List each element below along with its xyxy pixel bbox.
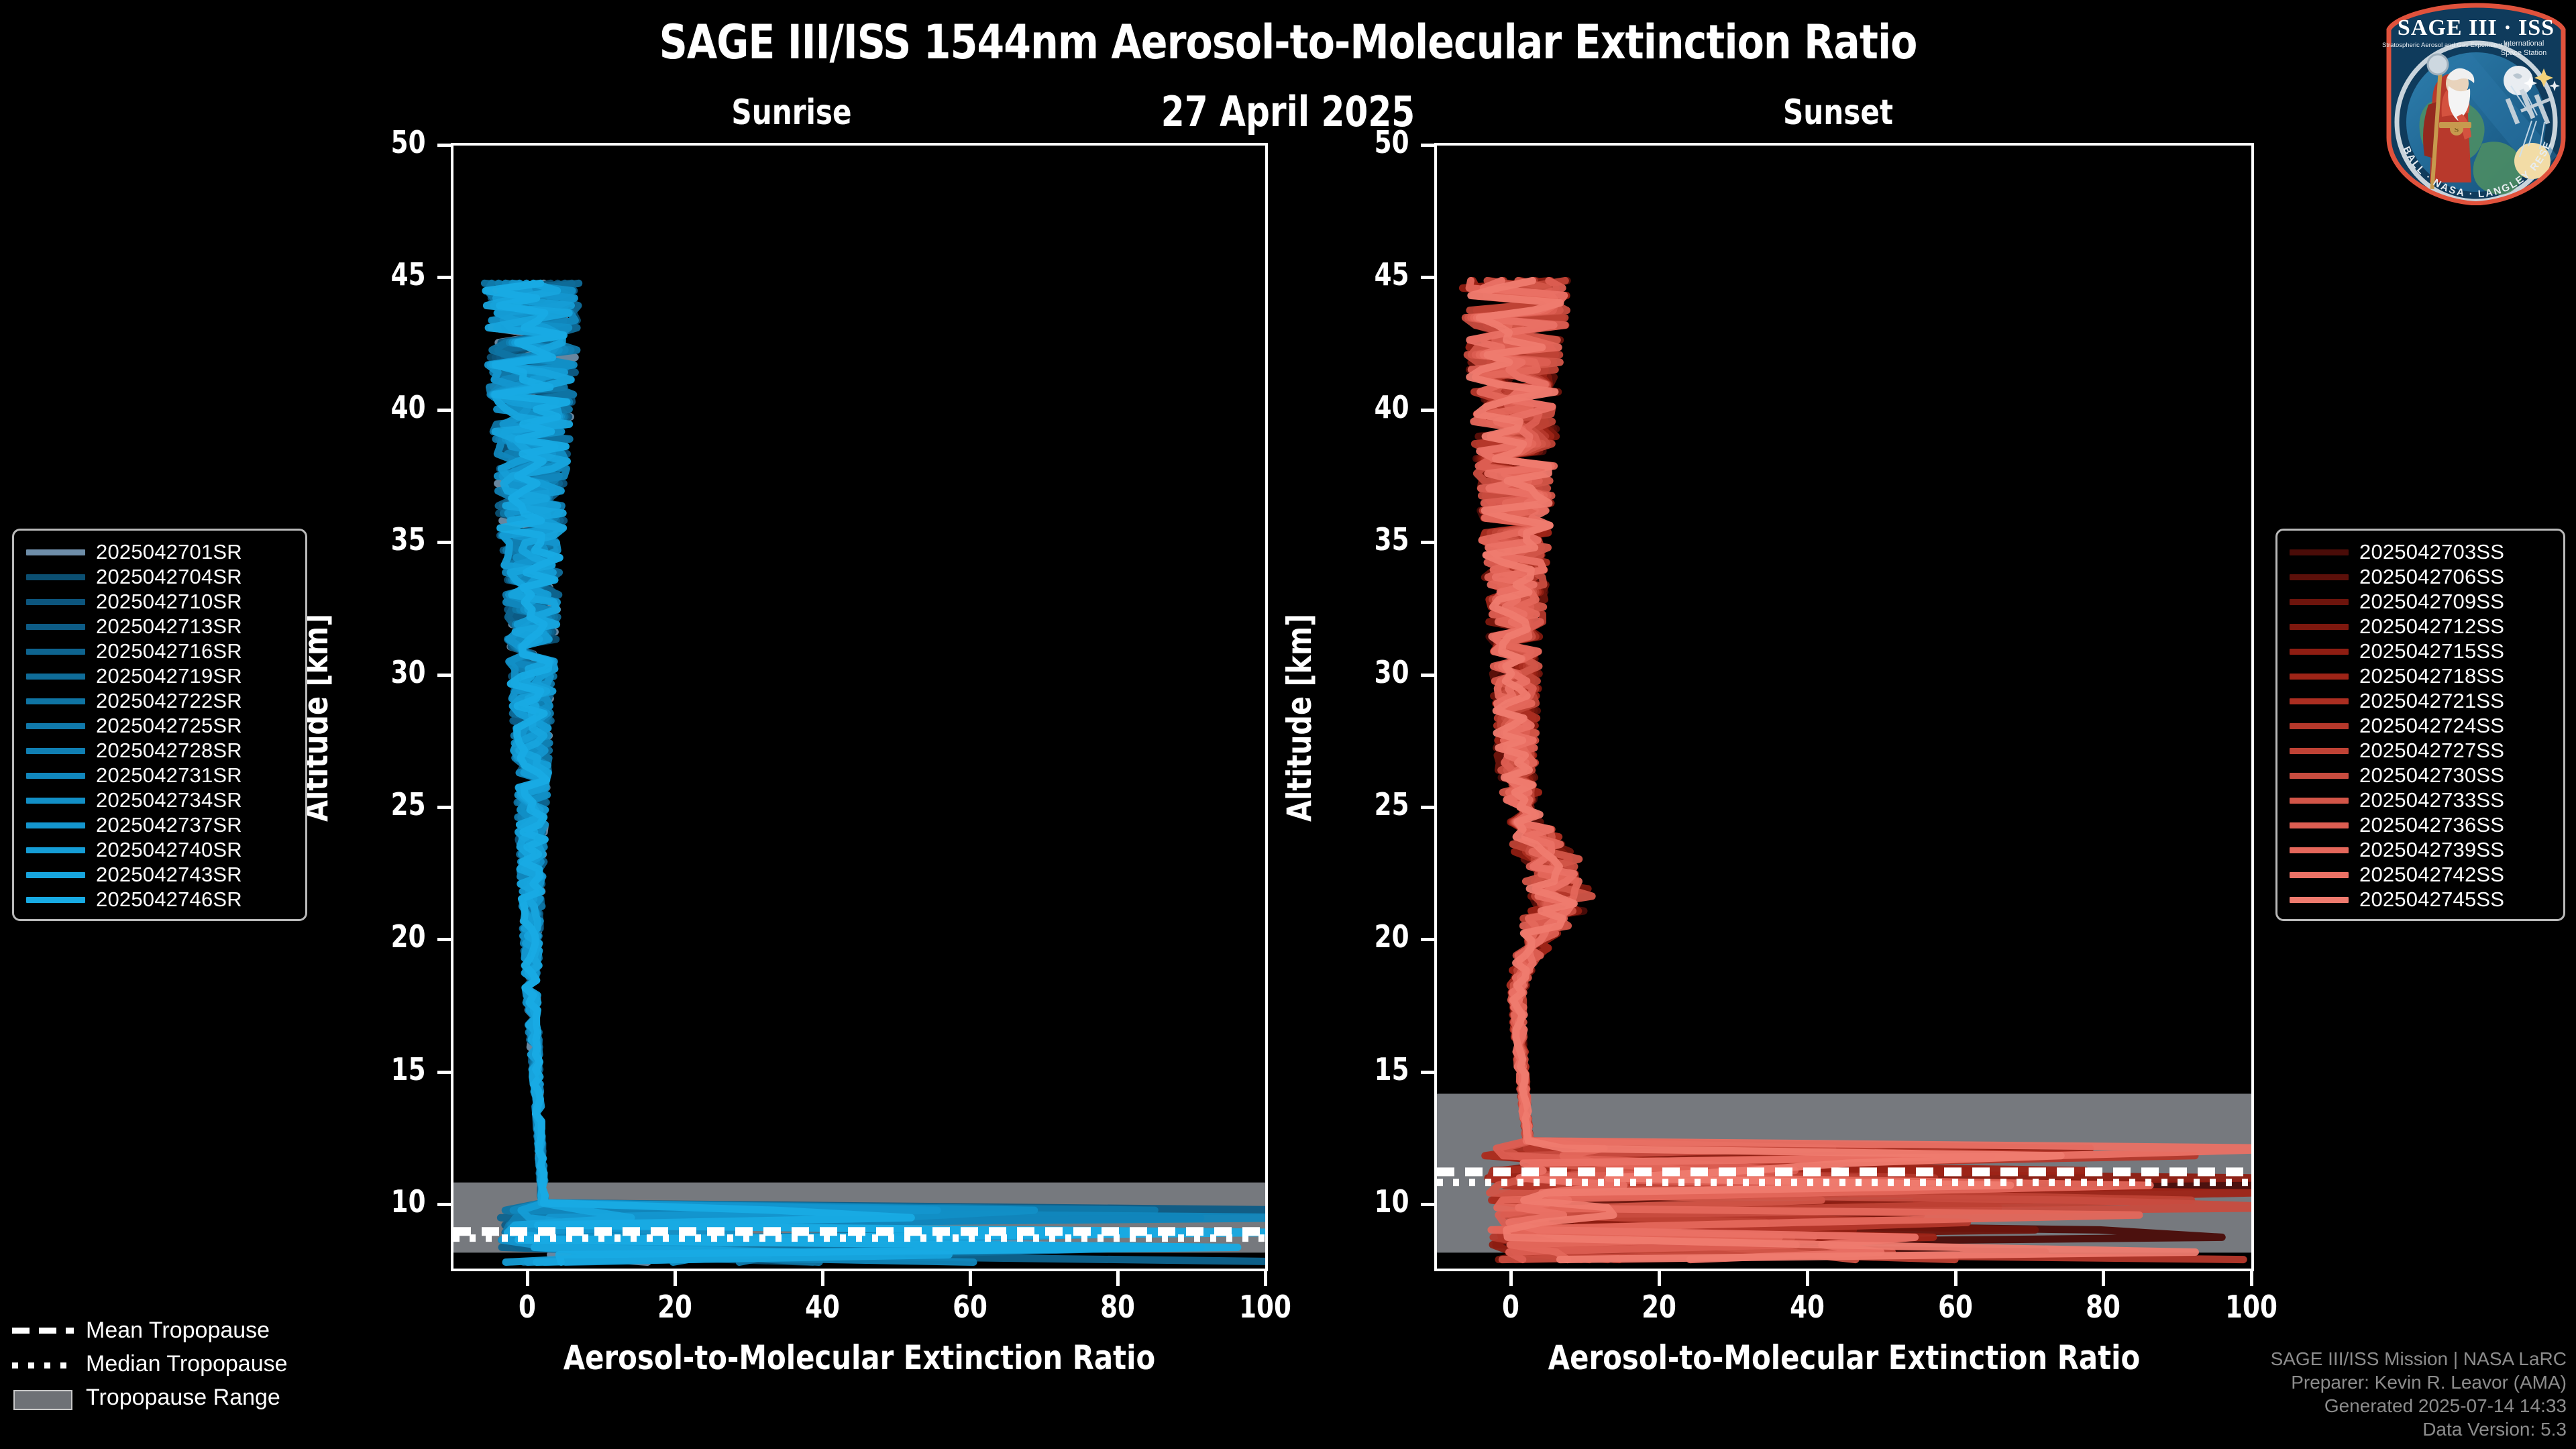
legend-item-label: 2025042734SR — [96, 788, 242, 812]
y-tick-label: 15 — [1319, 1051, 1409, 1087]
legend-item-label: 2025042739SS — [2359, 838, 2504, 862]
legend-color-swatch — [26, 773, 85, 779]
x-tick-label: 20 — [621, 1289, 729, 1325]
legend-color-swatch — [26, 599, 85, 605]
legend-item[interactable]: 2025042736SS — [2290, 813, 2551, 838]
legend-item-label: 2025042737SR — [96, 813, 242, 837]
x-tick-label: 0 — [473, 1289, 582, 1325]
x-tick-mark — [1116, 1271, 1120, 1286]
y-tick-mark — [1421, 1071, 1436, 1074]
legend-color-swatch — [2290, 897, 2349, 903]
x-tick-mark — [1954, 1271, 1957, 1286]
legend-item-label: 2025042746SR — [96, 888, 242, 912]
profile-trace — [486, 283, 1265, 1262]
legend-item[interactable]: 2025042715SS — [2290, 639, 2551, 664]
legend-item[interactable]: 2025042709SS — [2290, 590, 2551, 614]
legend-color-swatch — [26, 872, 85, 878]
legend-item-label: 2025042713SR — [96, 614, 242, 639]
x-tick-mark — [674, 1271, 677, 1286]
legend-item[interactable]: 2025042701SR — [26, 540, 293, 565]
legend-color-swatch — [2290, 798, 2349, 804]
profile-trace — [500, 283, 1265, 1262]
y-tick-mark — [437, 1203, 452, 1206]
legend-sunset[interactable]: 2025042703SS2025042706SS2025042709SS2025… — [2275, 529, 2565, 921]
profile-trace — [490, 283, 1179, 1262]
legend-color-swatch — [26, 798, 85, 804]
legend-item[interactable]: 2025042733SS — [2290, 788, 2551, 813]
x-tick-mark — [1509, 1271, 1513, 1286]
legend-item[interactable]: 2025042727SS — [2290, 739, 2551, 763]
profile-trace — [489, 283, 1111, 1262]
logo-subtitle-right-2: Space Station — [2501, 49, 2547, 57]
y-tick-mark — [1421, 938, 1436, 941]
legend-color-swatch — [26, 748, 85, 754]
x-tick-mark — [969, 1271, 972, 1286]
y-tick-label: 50 — [1319, 124, 1409, 160]
x-tick-label: 60 — [1901, 1289, 2010, 1325]
legend-item-label: 2025042704SR — [96, 565, 242, 589]
legend-item-label: 2025042725SR — [96, 714, 242, 738]
legend-item[interactable]: 2025042742SS — [2290, 863, 2551, 888]
x-tick-mark — [1264, 1271, 1267, 1286]
legend-color-swatch — [2290, 549, 2349, 555]
logo-subtitle-right-1: International — [2504, 40, 2544, 48]
legend-item[interactable]: 2025042721SS — [2290, 689, 2551, 714]
legend-item[interactable]: 2025042704SR — [26, 565, 293, 590]
tropopause-key-label: Median Tropopause — [86, 1351, 288, 1377]
y-tick-label: 35 — [1319, 521, 1409, 557]
profile-traces-sunset — [1437, 146, 2251, 1269]
profile-trace — [492, 283, 1265, 1262]
legend-item[interactable]: 2025042724SS — [2290, 714, 2551, 739]
y-tick-mark — [437, 1071, 452, 1074]
legend-sunrise[interactable]: 2025042701SR2025042704SR2025042710SR2025… — [12, 529, 307, 921]
legend-item-label: 2025042743SR — [96, 863, 242, 887]
y-tick-label: 40 — [335, 389, 426, 425]
profile-trace — [484, 283, 1155, 1262]
x-tick-mark — [821, 1271, 824, 1286]
legend-item[interactable]: 2025042719SR — [26, 664, 293, 689]
plot-sunrise — [451, 143, 1268, 1271]
x-tick-mark — [1658, 1271, 1661, 1286]
legend-item[interactable]: 2025042734SR — [26, 788, 293, 813]
legend-item-label: 2025042709SS — [2359, 590, 2504, 614]
y-tick-mark — [437, 674, 452, 677]
y-tick-label: 20 — [1319, 918, 1409, 955]
y-tick-mark — [1421, 276, 1436, 279]
x-axis-label-sunset: Aerosol-to-Molecular Extinction Ratio — [1463, 1338, 2225, 1377]
legend-color-swatch — [26, 847, 85, 853]
legend-item[interactable]: 2025042710SR — [26, 590, 293, 614]
y-tick-mark — [437, 144, 452, 147]
panel-title-sunset: Sunset — [1669, 93, 2007, 133]
legend-color-swatch — [2290, 649, 2349, 655]
tropopause-key-item: Median Tropopause — [12, 1347, 288, 1381]
legend-item[interactable]: 2025042722SR — [26, 689, 293, 714]
legend-color-swatch — [26, 549, 85, 555]
y-tick-mark — [1421, 1203, 1436, 1206]
legend-color-swatch — [26, 674, 85, 680]
legend-item-label: 2025042715SS — [2359, 639, 2504, 663]
legend-item-label: 2025042742SS — [2359, 863, 2504, 887]
x-tick-label: 0 — [1456, 1289, 1565, 1325]
x-tick-label: 40 — [768, 1289, 877, 1325]
x-tick-label: 100 — [1211, 1289, 1320, 1325]
legend-item-label: 2025042703SS — [2359, 540, 2504, 564]
legend-item[interactable]: 2025042739SS — [2290, 838, 2551, 863]
legend-item-label: 2025042745SS — [2359, 888, 2504, 912]
y-tick-mark — [1421, 541, 1436, 544]
y-tick-label: 30 — [1319, 654, 1409, 690]
legend-item-label: 2025042724SS — [2359, 714, 2504, 738]
legend-item-label: 2025042718SS — [2359, 664, 2504, 688]
legend-item-label: 2025042740SR — [96, 838, 242, 862]
credit-line: Generated 2025-07-14 14:33 — [2271, 1394, 2567, 1417]
legend-item-label: 2025042719SR — [96, 664, 242, 688]
legend-color-swatch — [2290, 624, 2349, 630]
legend-item-label: 2025042727SS — [2359, 739, 2504, 763]
legend-item[interactable]: 2025042725SR — [26, 714, 293, 739]
dashed-line-icon — [12, 1322, 74, 1339]
profile-trace — [490, 283, 1120, 1262]
legend-item-label: 2025042712SS — [2359, 614, 2504, 639]
legend-color-swatch — [2290, 698, 2349, 704]
legend-item-label: 2025042733SS — [2359, 788, 2504, 812]
legend-item[interactable]: 2025042703SS — [2290, 540, 2551, 565]
legend-item-label: 2025042736SS — [2359, 813, 2504, 837]
grey-band-icon — [12, 1389, 74, 1406]
y-tick-label: 10 — [335, 1183, 426, 1220]
y-tick-label: 45 — [335, 256, 426, 292]
profile-traces-sunrise — [453, 146, 1265, 1269]
y-tick-label: 15 — [335, 1051, 426, 1087]
y-tick-mark — [1421, 409, 1436, 412]
y-tick-label: 35 — [335, 521, 426, 557]
legend-color-swatch — [2290, 822, 2349, 828]
legend-item[interactable]: 2025042712SS — [2290, 614, 2551, 639]
plot-sunset — [1434, 143, 2254, 1271]
x-tick-label: 60 — [916, 1289, 1024, 1325]
x-tick-label: 80 — [2049, 1289, 2157, 1325]
y-tick-mark — [1421, 806, 1436, 809]
legend-item[interactable]: 2025042716SR — [26, 639, 293, 664]
legend-color-swatch — [26, 822, 85, 828]
legend-color-swatch — [26, 574, 85, 580]
legend-item-label: 2025042722SR — [96, 689, 242, 713]
logo-subtitle-left: Stratospheric Aerosol and Gas Experiment… — [2382, 42, 2510, 49]
legend-item[interactable]: 2025042728SR — [26, 739, 293, 763]
profile-trace — [488, 283, 1155, 1262]
credit-line: Preparer: Kevin R. Leavor (AMA) — [2271, 1371, 2567, 1394]
legend-color-swatch — [26, 698, 85, 704]
panel-title-sunrise: Sunrise — [623, 93, 961, 133]
legend-color-swatch — [2290, 723, 2349, 729]
y-tick-mark — [437, 409, 452, 412]
x-tick-label: 40 — [1753, 1289, 1862, 1325]
legend-item-label: 2025042701SR — [96, 540, 242, 564]
logo-title: SAGE III · ISS — [2398, 15, 2555, 40]
credit-line: SAGE III/ISS Mission | NASA LaRC — [2271, 1347, 2567, 1371]
tropopause-key-label: Mean Tropopause — [86, 1318, 270, 1344]
profile-trace — [492, 283, 1201, 1262]
page-title: SAGE III/ISS 1544nm Aerosol-to-Molecular… — [90, 15, 2485, 70]
legend-item[interactable]: 2025042731SR — [26, 763, 293, 788]
profile-trace — [498, 283, 1201, 1262]
y-tick-mark — [437, 806, 452, 809]
credit-line: Data Version: 5.3 — [2271, 1417, 2567, 1441]
x-tick-mark — [526, 1271, 529, 1286]
legend-item[interactable]: 2025042706SS — [2290, 565, 2551, 590]
x-tick-mark — [1806, 1271, 1809, 1286]
legend-color-swatch — [26, 897, 85, 903]
y-tick-mark — [437, 938, 452, 941]
legend-item-label: 2025042710SR — [96, 590, 242, 614]
y-tick-label: 10 — [1319, 1183, 1409, 1220]
legend-color-swatch — [2290, 599, 2349, 605]
x-tick-label: 20 — [1605, 1289, 1713, 1325]
legend-color-swatch — [2290, 674, 2349, 680]
legend-item-label: 2025042716SR — [96, 639, 242, 663]
x-axis-label-sunrise: Aerosol-to-Molecular Extinction Ratio — [480, 1338, 1240, 1377]
legend-color-swatch — [2290, 574, 2349, 580]
legend-item-label: 2025042730SS — [2359, 763, 2504, 788]
y-tick-mark — [1421, 674, 1436, 677]
y-tick-label: 50 — [335, 124, 426, 160]
profile-trace — [498, 283, 1265, 1262]
tropopause-key-label: Tropopause Range — [86, 1385, 280, 1411]
tropopause-key: Mean TropopauseMedian TropopauseTropopau… — [12, 1313, 288, 1414]
legend-item-label: 2025042721SS — [2359, 689, 2504, 713]
legend-item[interactable]: 2025042740SR — [26, 838, 293, 863]
tropopause-key-item: Tropopause Range — [12, 1381, 288, 1414]
y-tick-label: 30 — [335, 654, 426, 690]
legend-color-swatch — [2290, 748, 2349, 754]
y-tick-label: 40 — [1319, 389, 1409, 425]
legend-item-label: 2025042728SR — [96, 739, 242, 763]
sage-iii-iss-mission-patch-logo: S SAGE III · ISS Stratospheric Aerosol a… — [2381, 3, 2571, 205]
y-tick-mark — [437, 541, 452, 544]
legend-item[interactable]: 2025042745SS — [2290, 888, 2551, 912]
x-tick-mark — [2250, 1271, 2253, 1286]
date-title: 27 April 2025 — [129, 87, 2447, 136]
x-tick-label: 100 — [2197, 1289, 2306, 1325]
legend-item[interactable]: 2025042730SS — [2290, 763, 2551, 788]
x-tick-label: 80 — [1063, 1289, 1172, 1325]
y-tick-mark — [437, 276, 452, 279]
legend-item[interactable]: 2025042737SR — [26, 813, 293, 838]
legend-color-swatch — [2290, 872, 2349, 878]
legend-color-swatch — [26, 649, 85, 655]
tropopause-key-item: Mean Tropopause — [12, 1313, 288, 1347]
y-tick-label: 45 — [1319, 256, 1409, 292]
legend-item[interactable]: 2025042743SR — [26, 863, 293, 888]
legend-item-label: 2025042731SR — [96, 763, 242, 788]
y-tick-label: 25 — [1319, 786, 1409, 822]
y-tick-label: 25 — [335, 786, 426, 822]
dotted-line-icon — [12, 1355, 74, 1373]
x-tick-mark — [2102, 1271, 2105, 1286]
legend-color-swatch — [2290, 773, 2349, 779]
legend-item[interactable]: 2025042746SR — [26, 888, 293, 912]
credits-block: SAGE III/ISS Mission | NASA LaRCPreparer… — [2271, 1347, 2567, 1441]
legend-item[interactable]: 2025042718SS — [2290, 664, 2551, 689]
y-tick-mark — [1421, 144, 1436, 147]
y-tick-label: 20 — [335, 918, 426, 955]
legend-color-swatch — [26, 624, 85, 630]
legend-item-label: 2025042706SS — [2359, 565, 2504, 589]
y-axis-label-sunset: Altitude [km] — [1280, 594, 1319, 841]
legend-color-swatch — [2290, 847, 2349, 853]
legend-color-swatch — [26, 723, 85, 729]
legend-item[interactable]: 2025042713SR — [26, 614, 293, 639]
